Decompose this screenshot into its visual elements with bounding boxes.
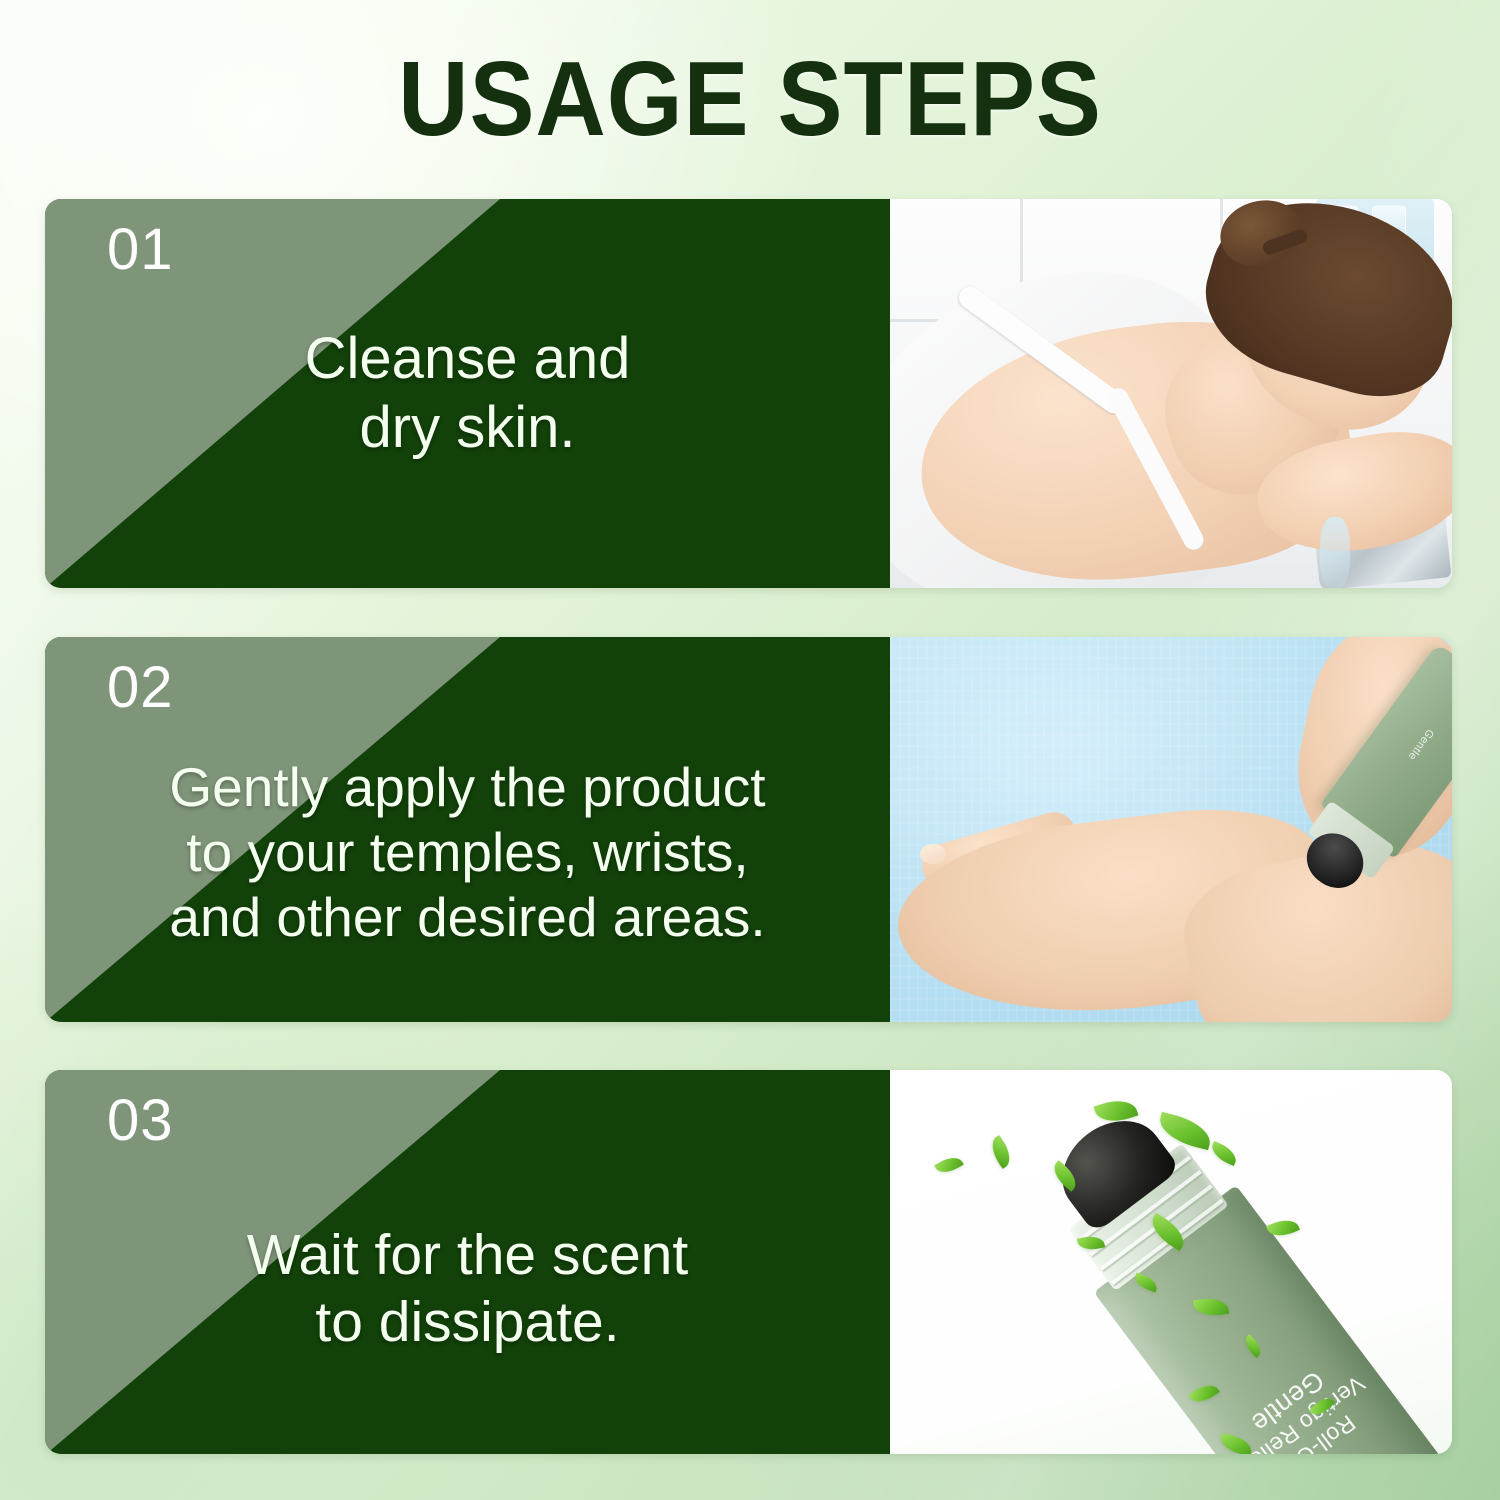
step-1-line-1: Cleanse and bbox=[305, 325, 631, 393]
step-3-photo: Roll-On Vertigo Relief Gentle 10.34fl oz bbox=[890, 1070, 1452, 1454]
step-card-1: 01 Cleanse and dry skin. bbox=[45, 199, 1452, 588]
step-2-line-3: and other desired areas. bbox=[169, 885, 765, 950]
step-2-line-2: to your temples, wrists, bbox=[169, 820, 765, 885]
step-3-line-2: to dissipate. bbox=[247, 1289, 688, 1356]
infographic-page: USAGE STEPS 01 Cleanse and dry skin. bbox=[0, 0, 1500, 1500]
step-1-text-pane: 01 Cleanse and dry skin. bbox=[45, 199, 890, 588]
roll-on-bottle-label: Gentle bbox=[1405, 727, 1436, 763]
step-1-text: Cleanse and dry skin. bbox=[277, 325, 659, 462]
step-1-photo bbox=[890, 199, 1452, 588]
step-3-line-1: Wait for the scent bbox=[247, 1222, 688, 1289]
running-water bbox=[1320, 517, 1350, 588]
step-2-text: Gently apply the product to your temples… bbox=[141, 709, 793, 950]
step-3-text-pane: 03 Wait for the scent to dissipate. bbox=[45, 1070, 890, 1454]
step-2-photo: Gentle bbox=[890, 637, 1452, 1022]
step-3-text: Wait for the scent to dissipate. bbox=[219, 1168, 716, 1357]
fingernail bbox=[920, 844, 946, 864]
step-1-number: 01 bbox=[107, 221, 174, 279]
step-3-number: 03 bbox=[107, 1092, 174, 1150]
step-card-2: 02 Gently apply the product to your temp… bbox=[45, 637, 1452, 1022]
page-title: USAGE STEPS bbox=[60, 46, 1440, 152]
step-2-line-1: Gently apply the product bbox=[169, 755, 765, 820]
step-1-line-2: dry skin. bbox=[305, 394, 631, 462]
step-2-text-pane: 02 Gently apply the product to your temp… bbox=[45, 637, 890, 1022]
step-card-3: 03 Wait for the scent to dissipate. Roll… bbox=[45, 1070, 1452, 1454]
